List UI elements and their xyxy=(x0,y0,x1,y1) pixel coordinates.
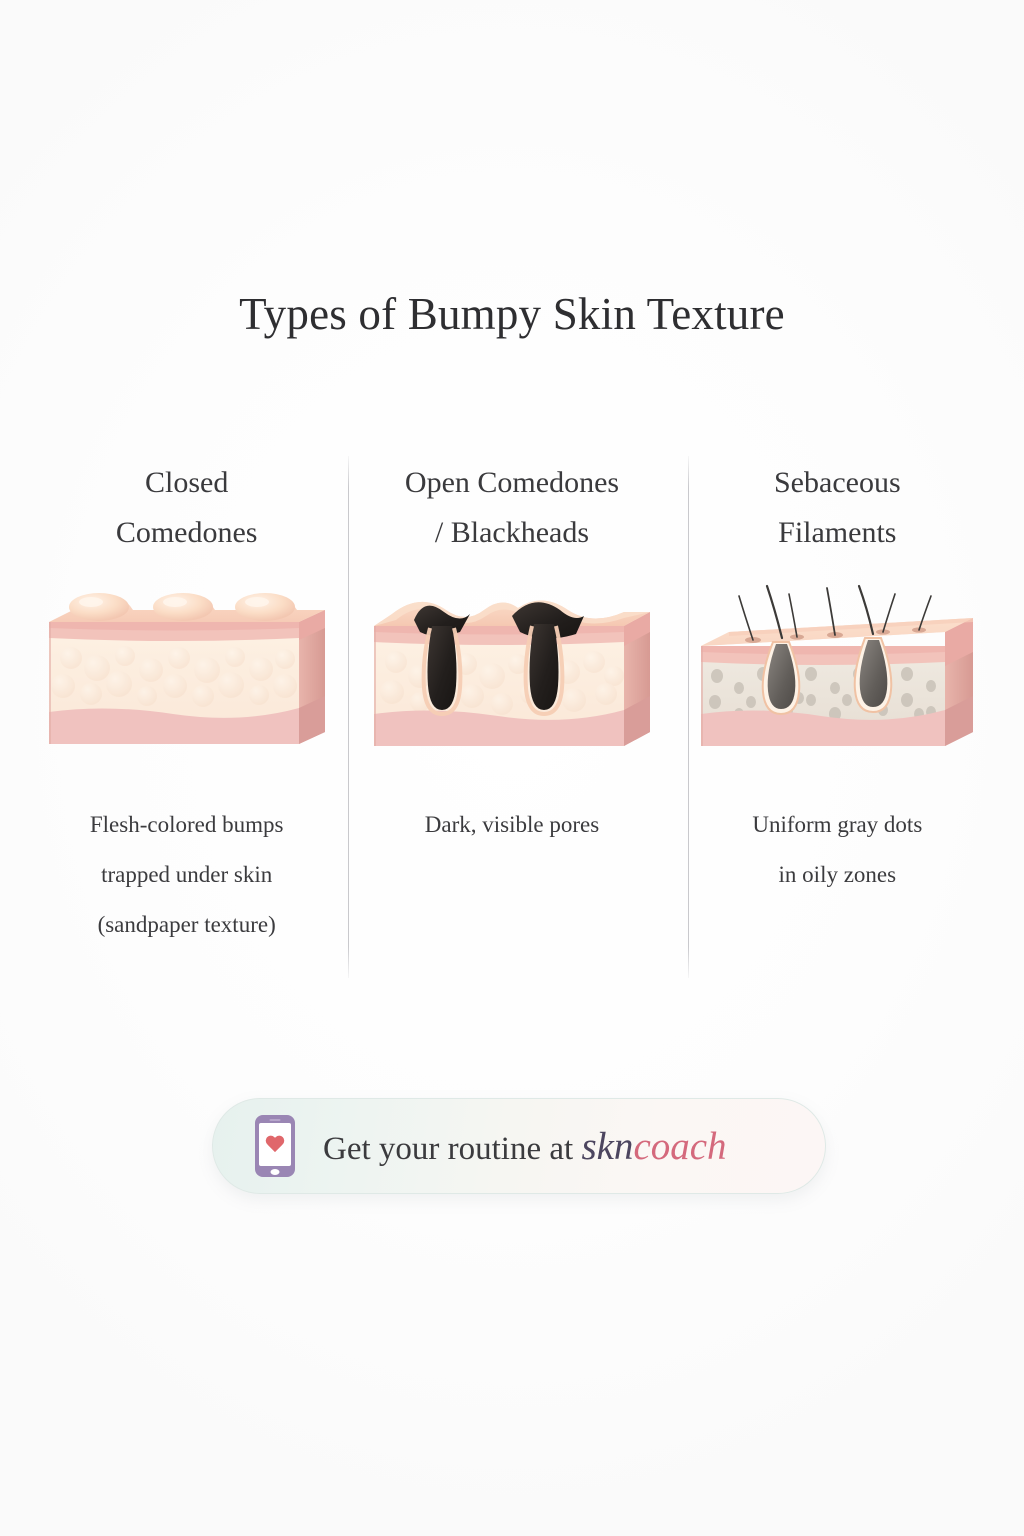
column-open-comedones: Open Comedones / Blackheads xyxy=(349,452,674,992)
diagram-open-comedones xyxy=(362,580,662,770)
column-caption-sebaceous-filaments: Uniform gray dots in oily zones xyxy=(752,800,922,900)
column-closed-comedones: Closed Comedones xyxy=(24,452,349,992)
phone-screen xyxy=(259,1123,291,1166)
comparison-columns: Closed Comedones xyxy=(24,452,1000,992)
phone-home-button-icon xyxy=(271,1169,280,1175)
diagram-sebaceous-filaments xyxy=(687,580,987,770)
column-heading-open-comedones: Open Comedones / Blackheads xyxy=(405,458,619,558)
cta-banner[interactable]: Get your routine at skncoach xyxy=(212,1098,826,1194)
closed-comedones-illustration xyxy=(37,580,337,770)
phone-speaker-icon xyxy=(270,1119,281,1121)
phone-heart-icon xyxy=(255,1115,295,1177)
column-heading-sebaceous-filaments: Sebaceous Filaments xyxy=(774,458,901,558)
cta-text: Get your routine at skncoach xyxy=(323,1124,727,1169)
diagram-closed-comedones xyxy=(37,580,337,770)
page-title: Types of Bumpy Skin Texture xyxy=(0,288,1024,340)
column-sebaceous-filaments: Sebaceous Filaments xyxy=(675,452,1000,992)
sebaceous-filaments-illustration xyxy=(687,580,987,770)
brand-skn: skn xyxy=(581,1125,633,1168)
cta-text-prefix: Get your routine at xyxy=(323,1131,581,1167)
column-caption-open-comedones: Dark, visible pores xyxy=(425,800,599,850)
open-comedones-illustration xyxy=(362,580,662,770)
column-heading-closed-comedones: Closed Comedones xyxy=(116,458,258,558)
brand-coach: coach xyxy=(633,1125,726,1168)
heart-icon xyxy=(265,1136,285,1154)
column-caption-closed-comedones: Flesh-colored bumps trapped under skin (… xyxy=(90,800,284,950)
